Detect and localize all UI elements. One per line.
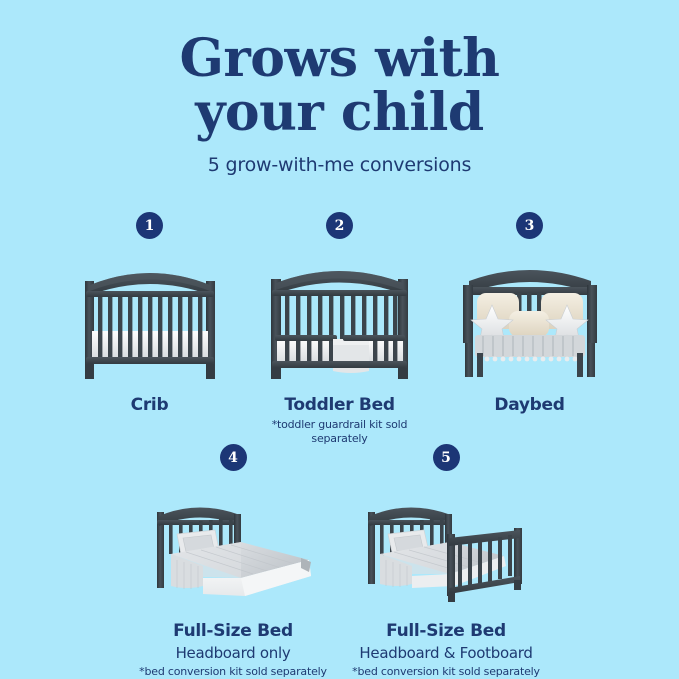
caption-note: *toddler guardrail kit sold separately xyxy=(245,418,435,444)
title-line-1: Grows with xyxy=(180,28,500,89)
daybed-icon xyxy=(447,253,612,383)
full-size-bed-headboard-footboard-icon xyxy=(354,494,539,609)
caption-full-size-headboard: Full-Size Bed Headboard only *bed conver… xyxy=(139,621,327,679)
caption-title: Crib xyxy=(131,395,169,415)
step-badge-4: 4 xyxy=(220,444,247,471)
crib-icon xyxy=(70,253,230,383)
caption-note: *bed conversion kit sold separately xyxy=(139,665,327,678)
daybed-illustration xyxy=(447,253,612,383)
conversion-panel-daybed: 3 xyxy=(435,212,625,445)
caption-daybed: Daybed xyxy=(494,395,564,415)
conversions-row-bottom: 4 xyxy=(0,444,679,679)
caption-crib: Crib xyxy=(131,395,169,415)
toddler-bed-icon xyxy=(257,253,422,383)
step-badge-2: 2 xyxy=(326,212,353,239)
caption-title: Toddler Bed xyxy=(245,395,435,415)
caption-toddler-bed: Toddler Bed *toddler guardrail kit sold … xyxy=(245,395,435,445)
caption-note: *bed conversion kit sold separately xyxy=(352,665,540,678)
step-badge-1: 1 xyxy=(136,212,163,239)
conversion-panel-full-size-headboard-footboard: 5 xyxy=(340,444,553,679)
page-subtitle: 5 grow-with-me conversions xyxy=(0,154,679,176)
infographic-header: Grows with your child 5 grow-with-me con… xyxy=(0,32,679,176)
full-size-bed-headboard-footboard-illustration xyxy=(354,489,539,609)
caption-subtitle: Headboard only xyxy=(139,644,327,662)
caption-full-size-headboard-footboard: Full-Size Bed Headboard & Footboard *bed… xyxy=(352,621,540,679)
conversion-panel-toddler-bed: 2 xyxy=(245,212,435,445)
full-size-bed-headboard-illustration xyxy=(141,489,326,609)
page-title: Grows with your child xyxy=(0,32,679,140)
crib-illustration xyxy=(70,253,230,383)
grows-with-child-infographic: Grows with your child 5 grow-with-me con… xyxy=(0,0,679,679)
full-size-bed-headboard-icon xyxy=(141,494,326,609)
caption-subtitle: Headboard & Footboard xyxy=(352,644,540,662)
caption-title: Full-Size Bed xyxy=(352,621,540,641)
caption-title: Full-Size Bed xyxy=(139,621,327,641)
toddler-bed-illustration xyxy=(257,253,422,383)
title-line-2: your child xyxy=(0,86,679,140)
step-badge-3: 3 xyxy=(516,212,543,239)
conversion-panel-full-size-headboard: 4 xyxy=(127,444,340,679)
conversion-panel-crib: 1 xyxy=(55,212,245,445)
caption-title: Daybed xyxy=(494,395,564,415)
step-badge-5: 5 xyxy=(433,444,460,471)
conversions-row-top: 1 xyxy=(0,212,679,445)
